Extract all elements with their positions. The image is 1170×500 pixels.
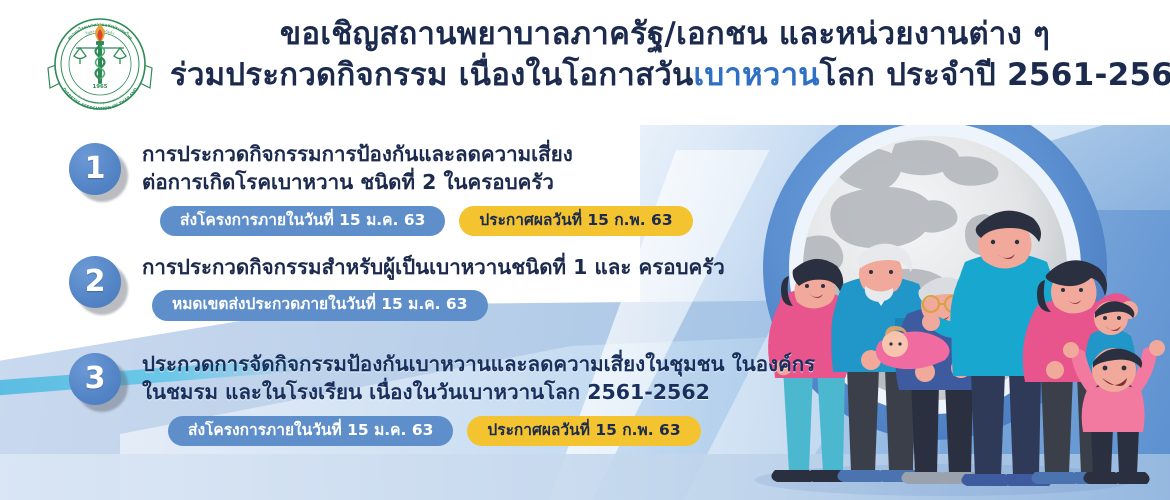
item-3-heading-line-1: ประกวดการจัดกิจกรรมป้องกันเบาหวานและลดคว… <box>142 350 815 378</box>
figure-boy-pink-shirt-arms-up <box>1063 340 1165 484</box>
logo-year: 1965 <box>92 84 107 90</box>
item-1-results-badge[interactable]: ประกาศผลวันที่ 15 ก.พ. 63 <box>459 206 692 236</box>
item-2-number-label: 2 <box>85 267 106 297</box>
item-1-body: การประกวดกิจกรรมการป้องกันและลดความเสี่ย… <box>142 140 693 236</box>
item-3-body: ประกวดการจัดกิจกรรมป้องกันเบาหวานและลดคว… <box>142 350 815 446</box>
item-3-results-badge[interactable]: ประกาศผลวันที่ 15 ก.พ. 63 <box>467 416 700 446</box>
item-2-badges: หมดเขตส่งประกวดภายในวันที่ 15 ม.ค. 63 <box>152 290 725 320</box>
item-1-number-label: 1 <box>85 154 106 184</box>
title-line-2-part-2: โลก ประจำปี 2561-2562 <box>820 57 1170 93</box>
title-line-2: ร่วมประกวดกิจกรรม เนื่องในโอกาสวันเบาหวา… <box>170 57 1160 95</box>
diabetes-day-announcement-banner: สมาคมโรคเบาหวานแห่งประเทศไทย ในพระราชูปถ… <box>0 0 1170 500</box>
banner-header: สมาคมโรคเบาหวานแห่งประเทศไทย ในพระราชูปถ… <box>0 0 1170 125</box>
item-1-number-badge: 1 <box>66 140 132 202</box>
item-2-number-badge: 2 <box>66 253 132 315</box>
item-1-heading-line-2: ต่อการเกิดโรคเบาหวาน ชนิดที่ 2 ในครอบครั… <box>142 168 693 196</box>
item-2-body: การประกวดกิจกรรมสำหรับผู้เป็นเบาหวานชนิด… <box>142 253 725 321</box>
diabetes-association-logo: สมาคมโรคเบาหวานแห่งประเทศไทย ในพระราชูปถ… <box>46 12 154 116</box>
competition-item-3: 3 ประกวดการจัดกิจกรรมป้องกันเบาหวานและลด… <box>66 350 815 446</box>
item-2-heading-line-1: การประกวดกิจกรรมสำหรับผู้เป็นเบาหวานชนิด… <box>142 253 725 281</box>
item-3-badges: ส่งโครงการภายในวันที่ 15 ม.ค. 63 ประกาศผ… <box>168 416 815 446</box>
item-2-deadline-badge[interactable]: หมดเขตส่งประกวดภายในวันที่ 15 ม.ค. 63 <box>152 290 488 320</box>
item-2-number-circle: 2 <box>69 256 121 308</box>
title-line-2-highlight: เบาหวาน <box>694 57 820 93</box>
competition-item-2: 2 การประกวดกิจกรรมสำหรับผู้เป็นเบาหวานชน… <box>66 253 725 321</box>
item-3-heading-line-2: ในชมรม และในโรงเรียน เนื่องในวันเบาหวานโ… <box>142 378 815 406</box>
competition-item-1: 1 การประกวดกิจกรรมการป้องกันและลดความเสี… <box>66 140 693 236</box>
title-line-1: ขอเชิญสถานพยาบาลภาครัฐ/เอกชน และหน่วยงาน… <box>170 16 1160 54</box>
item-3-deadline-badge[interactable]: ส่งโครงการภายในวันที่ 15 ม.ค. 63 <box>168 416 453 446</box>
item-1-heading-line-1: การประกวดกิจกรรมการป้องกันและลดความเสี่ย… <box>142 140 693 168</box>
item-1-badges: ส่งโครงการภายในวันที่ 15 ม.ค. 63 ประกาศผ… <box>160 206 693 236</box>
item-3-number-badge: 3 <box>66 350 132 412</box>
title-line-2-part-1: ร่วมประกวดกิจกรรม เนื่องในโอกาสวัน <box>170 57 694 93</box>
item-3-number-label: 3 <box>85 364 106 394</box>
banner-titles: ขอเชิญสถานพยาบาลภาครัฐ/เอกชน และหน่วยงาน… <box>170 16 1160 95</box>
item-1-deadline-badge[interactable]: ส่งโครงการภายในวันที่ 15 ม.ค. 63 <box>160 206 445 236</box>
item-1-number-circle: 1 <box>69 143 121 195</box>
item-3-number-circle: 3 <box>69 353 121 405</box>
